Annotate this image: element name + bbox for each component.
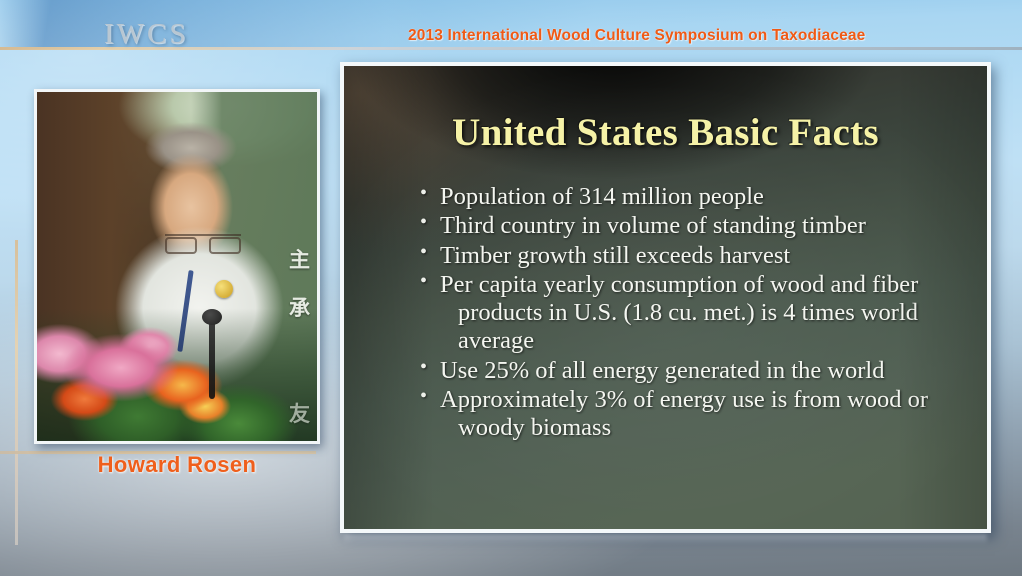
slide-bullet-continuation: average [440, 327, 957, 355]
slide-reflection [344, 534, 987, 544]
banner-character-1: 主 [289, 244, 311, 274]
slide-bullet: Use 25% of all energy generated in the w… [420, 357, 957, 385]
banner-character-2: 承 [289, 292, 311, 322]
slide-bullet-text: Timber growth still exceeds harvest [440, 242, 790, 269]
slide-bullet: Per capita yearly consumption of wood an… [420, 271, 957, 356]
lanyard-detail [177, 270, 193, 352]
iwcs-logo: IWCS [104, 18, 189, 51]
slide-bullet-text: Approximately 3% of energy use is from w… [440, 386, 928, 413]
vertical-decor-rule [15, 240, 18, 545]
slide-bullet-text: Third country in volume of standing timb… [440, 212, 866, 239]
slide-bullet-continuation: woody biomass [440, 414, 957, 442]
video-frame: IWCS 2013 International Wood Culture Sym… [0, 0, 1022, 576]
speaker-name-caption: Howard Rosen [34, 452, 320, 478]
slide-bullet-text: Use 25% of all energy generated in the w… [440, 357, 884, 384]
event-title: 2013 International Wood Culture Symposiu… [408, 27, 865, 45]
slide-bullet-continuation: products in U.S. (1.8 cu. met.) is 4 tim… [440, 299, 957, 327]
banner-character-3: 友 [289, 398, 311, 428]
glasses-detail [165, 234, 241, 250]
slide-bullet-text: Population of 314 million people [440, 183, 764, 210]
slide-bullet-list: Population of 314 million peopleThird co… [420, 183, 957, 444]
slide-bullet: Timber growth still exceeds harvest [420, 242, 957, 270]
slide-background: United States Basic Facts Population of … [344, 66, 987, 529]
speaker-photo-image: 主 承 友 [37, 92, 317, 441]
slide-bullet-text: Per capita yearly consumption of wood an… [440, 271, 918, 298]
slide-bullet: Third country in volume of standing timb… [420, 212, 957, 240]
microphone-detail [209, 321, 215, 399]
badge-detail [215, 280, 233, 298]
speaker-photo: 主 承 友 [34, 89, 320, 444]
slide-title: United States Basic Facts [344, 110, 987, 155]
slide-bullet: Approximately 3% of energy use is from w… [420, 386, 957, 443]
slide-bullet: Population of 314 million people [420, 183, 957, 211]
presentation-slide: United States Basic Facts Population of … [340, 62, 991, 533]
